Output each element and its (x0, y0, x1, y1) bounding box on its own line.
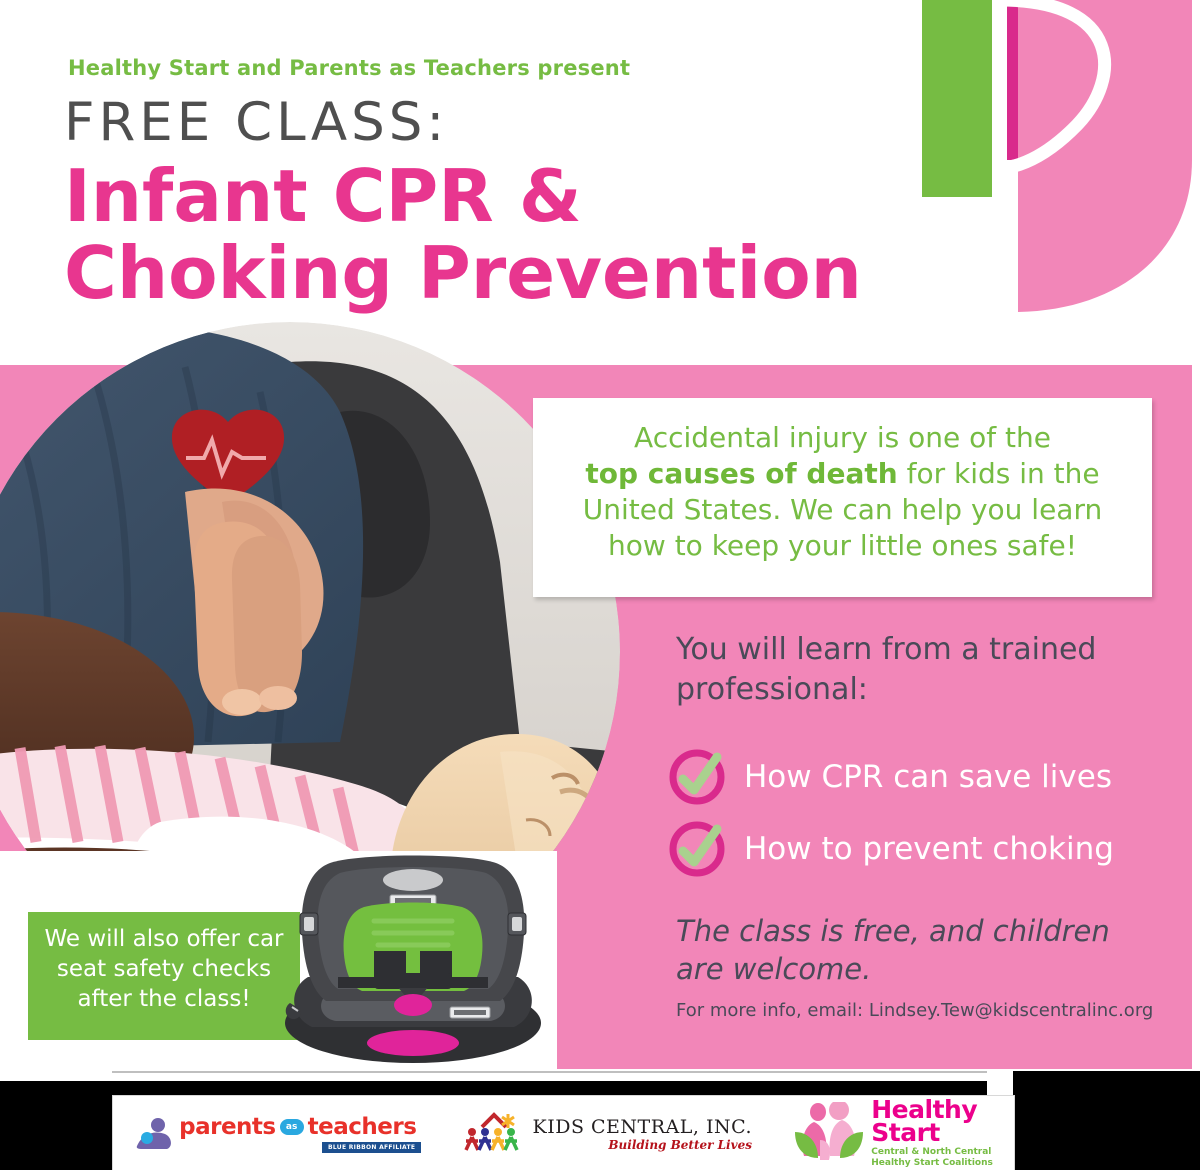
fact-line-2-rest: for kids in the (898, 457, 1100, 490)
black-bar-top (0, 1081, 987, 1095)
free-class-note: The class is free, and children are welc… (676, 912, 1146, 988)
list-item: How to prevent choking (668, 820, 1148, 878)
list-item: How CPR can save lives (668, 748, 1148, 806)
learn-list: How CPR can save lives How to prevent ch… (668, 748, 1148, 892)
brand-mark-decoration (822, 0, 1192, 330)
kicker-text: Healthy Start and Parents as Teachers pr… (68, 56, 630, 80)
footer-top-divider (112, 1071, 987, 1073)
page-title-line1: Infant CPR & (64, 160, 582, 232)
list-item-label: How to prevent choking (744, 831, 1114, 867)
right-white-edge (1192, 0, 1200, 1071)
car-seat-callout-box: We will also offer car seat safety check… (28, 912, 300, 1040)
fact-line-1: Accidental injury is one of the (634, 421, 1051, 454)
fact-line-4: how to keep your little ones safe! (608, 529, 1077, 562)
footer-logo-bar: parents as teachers BLUE RIBBON AFFILIAT… (112, 1095, 1015, 1170)
poster-root: Healthy Start and Parents as Teachers pr… (0, 0, 1200, 1170)
kci-tagline: Building Better Lives (533, 1138, 752, 1152)
fact-callout-box: Accidental injury is one of the top caus… (533, 398, 1152, 597)
check-circle-icon (668, 820, 726, 878)
eyebrow-free-class: FREE CLASS: (64, 92, 448, 153)
contact-email-line: For more info, email: Lindsey.Tew@kidsce… (676, 1000, 1156, 1021)
kci-name: KIDS CENTRAL, INC. (533, 1116, 752, 1138)
black-bar-left (0, 1081, 112, 1170)
parents-as-teachers-logo: parents as teachers BLUE RIBBON AFFILIAT… (134, 1114, 421, 1153)
car-seat-callout-text: We will also offer car seat safety check… (28, 924, 300, 1014)
pat-word-teachers: teachers (308, 1114, 417, 1140)
hs-sub-1: Central & North Central (871, 1147, 993, 1158)
pat-connector-as: as (280, 1119, 304, 1135)
fact-emphasis: top causes of death (585, 457, 897, 490)
pat-word-parents: parents (179, 1114, 276, 1140)
pat-figure-icon (134, 1116, 174, 1152)
car-seat-panel: We will also offer car seat safety check… (0, 851, 557, 1069)
hand (194, 521, 302, 716)
hs-line-2: Start (871, 1121, 993, 1144)
hs-sub-2: Healthy Start Coalitions (871, 1158, 993, 1169)
pat-blue-ribbon-badge: BLUE RIBBON AFFILIATE (322, 1142, 421, 1153)
healthy-start-logo: Healthy Start Central & North Central He… (794, 1098, 993, 1170)
fact-line-3: United States. We can help you learn (583, 493, 1102, 526)
car-seat-illustration (278, 855, 548, 1067)
black-bar-right (1013, 1071, 1200, 1170)
kids-central-logo: KIDS CENTRAL, INC. Building Better Lives (464, 1110, 752, 1158)
check-circle-icon (668, 748, 726, 806)
learn-heading: You will learn from a trained profession… (676, 630, 1146, 710)
kci-family-house-icon (464, 1110, 526, 1158)
list-item-label: How CPR can save lives (744, 759, 1112, 795)
hs-family-flower-icon (794, 1102, 864, 1166)
fact-callout-text: Accidental injury is one of the top caus… (533, 420, 1152, 564)
page-title-line2: Choking Prevention (64, 237, 862, 309)
